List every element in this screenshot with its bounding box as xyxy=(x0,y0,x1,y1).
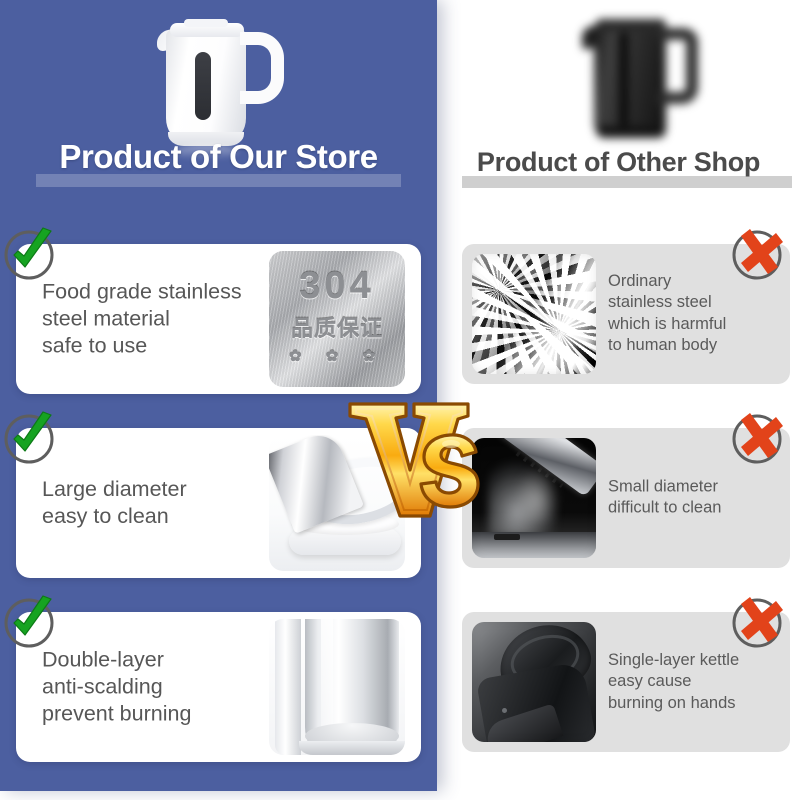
black-kettle-handle xyxy=(658,28,698,104)
left-title-text: Product of Our Store xyxy=(59,140,377,175)
right-title-underline-bar xyxy=(462,176,792,188)
kettle-water-window xyxy=(195,52,211,120)
right-card-3-text: Single-layer kettle easy cause burning o… xyxy=(608,650,784,714)
comparison-infographic: Product of Our Store Product of Other Sh… xyxy=(0,0,800,800)
black-kettle-lid xyxy=(596,19,666,31)
red-cross-icon xyxy=(730,226,786,282)
kettle-base-plate xyxy=(472,532,596,558)
left-card-2-text: Large diameter easy to clean xyxy=(42,476,272,530)
cylinder-outer-wall xyxy=(275,619,301,755)
cylinder-foot xyxy=(299,741,405,755)
right-card-3-image xyxy=(472,622,596,742)
white-kettle-hero-image xyxy=(148,6,298,154)
red-cross-icon xyxy=(730,594,786,650)
black-kettle-base xyxy=(596,126,666,138)
red-cross-icon xyxy=(730,410,786,466)
left-title-underline-bar xyxy=(36,174,401,187)
left-card-3-text: Double-layer anti-scalding prevent burni… xyxy=(42,646,272,727)
left-card-1-image: 304 品质保证 ✿ ✿ ✿ xyxy=(269,251,405,387)
right-title-text: Product of Other Shop xyxy=(477,148,760,176)
right-card-1-text: Ordinary stainless steel which is harmfu… xyxy=(608,271,784,357)
kettle-lid-top xyxy=(184,19,228,27)
kettle-handle xyxy=(240,32,284,104)
left-feature-card-3: Double-layer anti-scalding prevent burni… xyxy=(16,612,421,762)
versus-badge xyxy=(344,392,504,522)
left-card-1-text: Food grade stainless steel material safe… xyxy=(42,278,272,359)
black-kettle-body xyxy=(594,24,666,134)
green-check-icon xyxy=(2,226,58,282)
kettle-switch xyxy=(494,534,520,540)
steel-stars-stamp: ✿ ✿ ✿ xyxy=(269,347,405,365)
black-kettle-hero-image xyxy=(572,6,722,148)
green-check-icon xyxy=(2,594,58,650)
black-pot-dot xyxy=(502,708,507,713)
steel-grade-304-stamp: 304 xyxy=(269,265,405,308)
left-feature-card-1: Food grade stainless steel material safe… xyxy=(16,244,421,394)
right-panel-title: Product of Other Shop xyxy=(437,148,800,176)
right-card-2-text: Small diameter difficult to clean xyxy=(608,477,784,520)
green-check-icon xyxy=(2,410,58,466)
right-card-1-image xyxy=(472,254,596,374)
steam-plume-secondary xyxy=(514,466,560,522)
left-panel-title: Product of Our Store xyxy=(0,140,437,175)
left-card-3-image xyxy=(269,619,405,755)
steel-chinese-stamp: 品质保证 xyxy=(269,311,405,343)
black-kettle-stripe xyxy=(619,32,628,128)
